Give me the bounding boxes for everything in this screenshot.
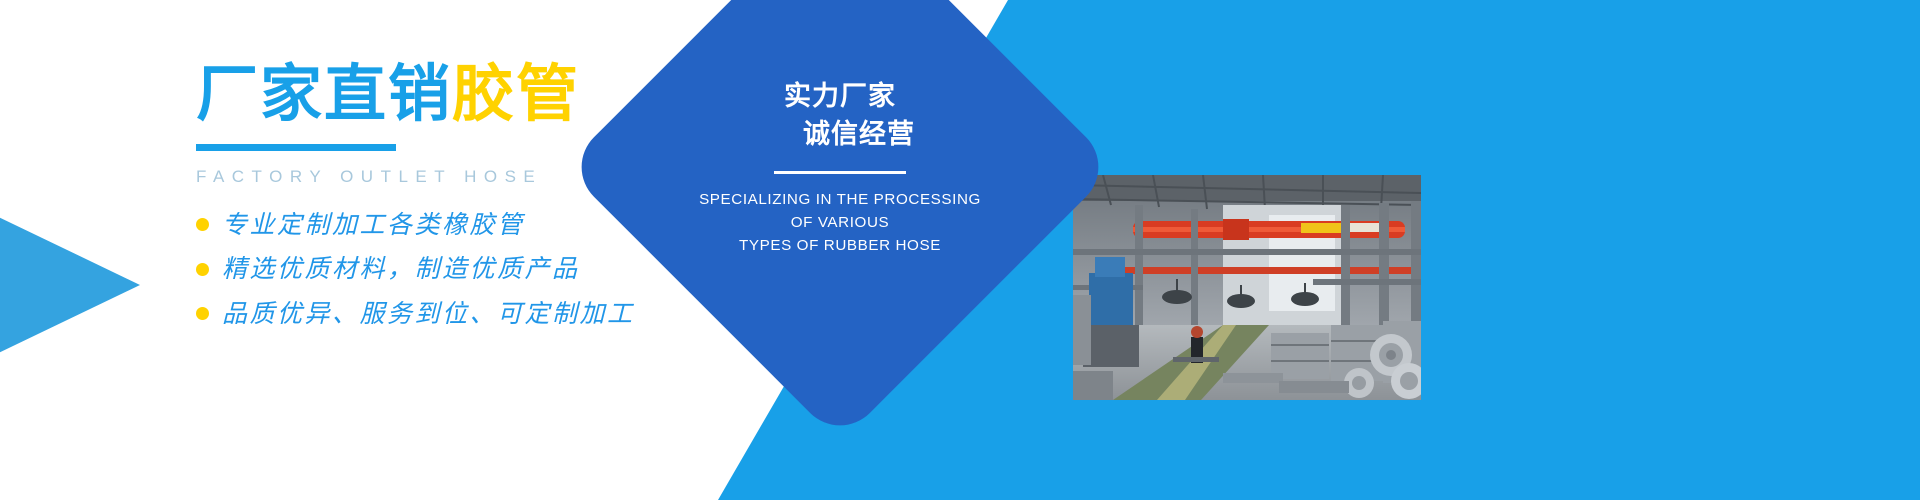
list-item-label: 专业定制加工各类橡胶管 (222, 209, 525, 242)
bullet-dot-icon (196, 218, 209, 231)
title-underline (196, 144, 396, 151)
diamond-english-text: SPECIALIZING IN THE PROCESSING OF VARIOU… (699, 188, 981, 257)
page-title: 厂家直销胶管 (196, 62, 716, 128)
list-item: 专业定制加工各类橡胶管 (196, 209, 716, 242)
diamond-divider (774, 171, 906, 174)
bullet-dot-icon (196, 307, 209, 320)
list-item: 品质优异、服务到位、可定制加工 (196, 298, 716, 331)
diamond-chinese-heading: 实力厂家 诚信经营 (765, 77, 915, 154)
title-part-blue: 厂家直销 (196, 60, 452, 129)
promo-banner: 实力厂家 诚信经营 SPECIALIZING IN THE PROCESSING… (0, 0, 1920, 500)
list-item: 精选优质材料，制造优质产品 (196, 253, 716, 286)
bullet-dot-icon (196, 263, 209, 276)
diamond-cn-line-2: 诚信经营 (765, 115, 915, 153)
factory-photo (1073, 175, 1421, 400)
title-part-yellow: 胶管 (452, 60, 580, 129)
left-chevron-shape (0, 160, 140, 410)
list-item-label: 品质优异、服务到位、可定制加工 (222, 298, 635, 331)
headline-block: 厂家直销胶管 FACTORY OUTLET HOSE 专业定制加工各类橡胶管 精… (196, 62, 716, 342)
factory-photo-image (1073, 175, 1421, 400)
list-item-label: 精选优质材料，制造优质产品 (222, 253, 580, 286)
feature-list: 专业定制加工各类橡胶管 精选优质材料，制造优质产品 品质优异、服务到位、可定制加… (196, 209, 716, 331)
subtitle-english: FACTORY OUTLET HOSE (196, 167, 716, 187)
diamond-cn-line-1: 实力厂家 (765, 77, 915, 115)
